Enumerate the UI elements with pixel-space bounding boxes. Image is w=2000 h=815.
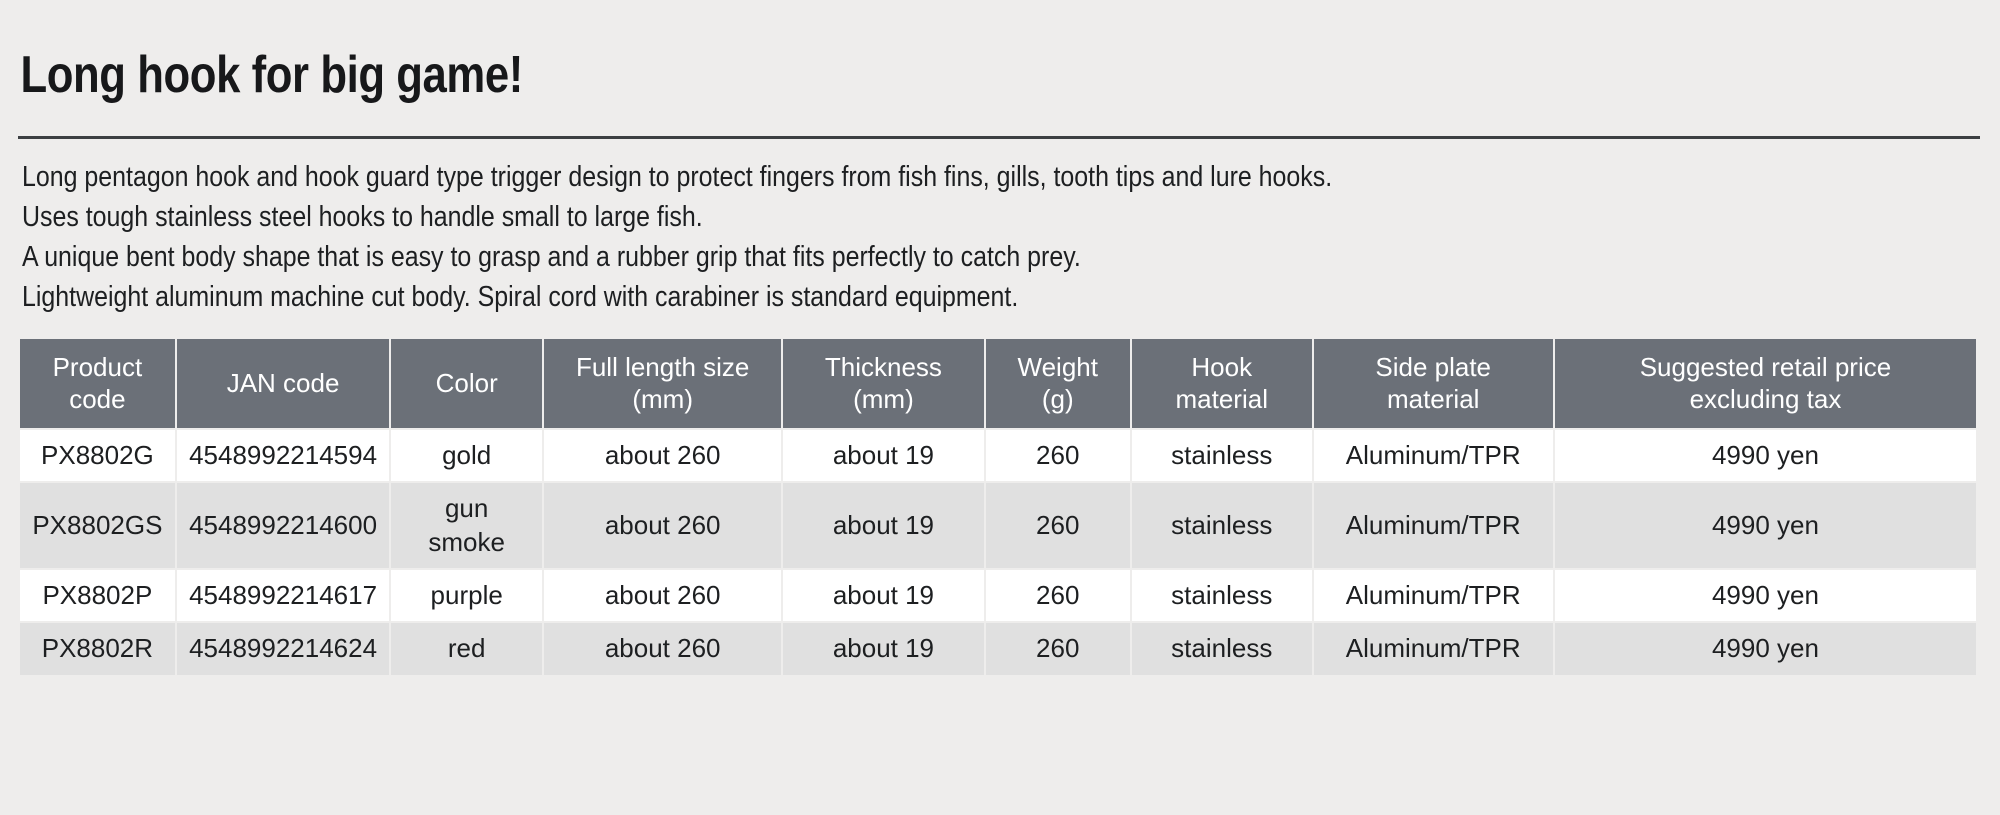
description-line: Lightweight aluminum machine cut body. S… (22, 277, 1708, 317)
column-header-hook-material: Hook material (1132, 339, 1312, 429)
cell-product-code: PX8802P (20, 570, 175, 621)
color-line-2: smoke (395, 526, 538, 559)
specification-table: Product code JAN code Color Full length … (18, 337, 1978, 677)
header-line-1: Suggested retail price (1559, 351, 1972, 384)
cell-hook-material: stainless (1132, 623, 1312, 674)
cell-jan-code: 4548992214600 (177, 483, 390, 568)
cell-price: 4990 yen (1555, 570, 1976, 621)
color-line-1: gold (395, 439, 538, 472)
header-line-1: JAN code (181, 367, 386, 400)
description-line: Uses tough stainless steel hooks to hand… (22, 197, 1708, 237)
cell-full-length: about 260 (544, 623, 781, 674)
cell-thickness: about 19 (783, 623, 983, 674)
cell-full-length: about 260 (544, 483, 781, 568)
title-divider (18, 136, 1980, 139)
cell-product-code: PX8802R (20, 623, 175, 674)
column-header-weight: Weight (g) (986, 339, 1130, 429)
header-line-1: Hook (1136, 351, 1308, 384)
cell-side-plate-material: Aluminum/TPR (1314, 570, 1553, 621)
header-line-2: (g) (990, 383, 1126, 416)
table-row: PX8802P 4548992214617 purple about 260 a… (20, 570, 1976, 621)
cell-price: 4990 yen (1555, 483, 1976, 568)
table-row: PX8802G 4548992214594 gold about 260 abo… (20, 430, 1976, 481)
cell-thickness: about 19 (783, 570, 983, 621)
cell-side-plate-material: Aluminum/TPR (1314, 483, 1553, 568)
cell-thickness: about 19 (783, 430, 983, 481)
header-line-1: Color (395, 367, 538, 400)
column-header-full-length-size: Full length size (mm) (544, 339, 781, 429)
cell-color: gold (391, 430, 542, 481)
header-line-2: material (1318, 383, 1549, 416)
column-header-color: Color (391, 339, 542, 429)
color-line-1: gun (395, 492, 538, 525)
cell-weight: 260 (986, 623, 1130, 674)
header-line-1: Side plate (1318, 351, 1549, 384)
header-line-1: Thickness (787, 351, 979, 384)
color-line-1: purple (395, 579, 538, 612)
header-line-2: (mm) (787, 383, 979, 416)
column-header-thickness: Thickness (mm) (783, 339, 983, 429)
color-line-1: red (395, 632, 538, 665)
description-line: Long pentagon hook and hook guard type t… (22, 157, 1708, 197)
table-row: PX8802R 4548992214624 red about 260 abou… (20, 623, 1976, 674)
cell-color: red (391, 623, 542, 674)
product-description: Long pentagon hook and hook guard type t… (18, 157, 1982, 317)
cell-hook-material: stainless (1132, 430, 1312, 481)
cell-weight: 260 (986, 570, 1130, 621)
product-spec-page: Long hook for big game! Long pentagon ho… (0, 35, 2000, 815)
cell-hook-material: stainless (1132, 483, 1312, 568)
cell-jan-code: 4548992214594 (177, 430, 390, 481)
cell-thickness: about 19 (783, 483, 983, 568)
header-line-2: excluding tax (1559, 383, 1972, 416)
header-line-1: Full length size (548, 351, 777, 384)
cell-full-length: about 260 (544, 570, 781, 621)
header-line-2: material (1136, 383, 1308, 416)
cell-weight: 260 (986, 430, 1130, 481)
column-header-jan-code: JAN code (177, 339, 390, 429)
cell-side-plate-material: Aluminum/TPR (1314, 623, 1553, 674)
cell-hook-material: stainless (1132, 570, 1312, 621)
cell-color: purple (391, 570, 542, 621)
header-line-2: code (24, 383, 171, 416)
cell-color: gun smoke (391, 483, 542, 568)
header-line-1: Product (24, 351, 171, 384)
header-line-1: Weight (990, 351, 1126, 384)
cell-price: 4990 yen (1555, 623, 1976, 674)
column-header-side-plate-material: Side plate material (1314, 339, 1553, 429)
cell-jan-code: 4548992214617 (177, 570, 390, 621)
cell-full-length: about 260 (544, 430, 781, 481)
column-header-product-code: Product code (20, 339, 175, 429)
table-row: PX8802GS 4548992214600 gun smoke about 2… (20, 483, 1976, 568)
description-line: A unique bent body shape that is easy to… (22, 237, 1708, 277)
cell-product-code: PX8802GS (20, 483, 175, 568)
page-title: Long hook for big game! (18, 35, 1668, 101)
cell-product-code: PX8802G (20, 430, 175, 481)
column-header-suggested-retail-price: Suggested retail price excluding tax (1555, 339, 1976, 429)
cell-price: 4990 yen (1555, 430, 1976, 481)
table-header-row: Product code JAN code Color Full length … (20, 339, 1976, 429)
header-line-2: (mm) (548, 383, 777, 416)
cell-jan-code: 4548992214624 (177, 623, 390, 674)
cell-side-plate-material: Aluminum/TPR (1314, 430, 1553, 481)
cell-weight: 260 (986, 483, 1130, 568)
